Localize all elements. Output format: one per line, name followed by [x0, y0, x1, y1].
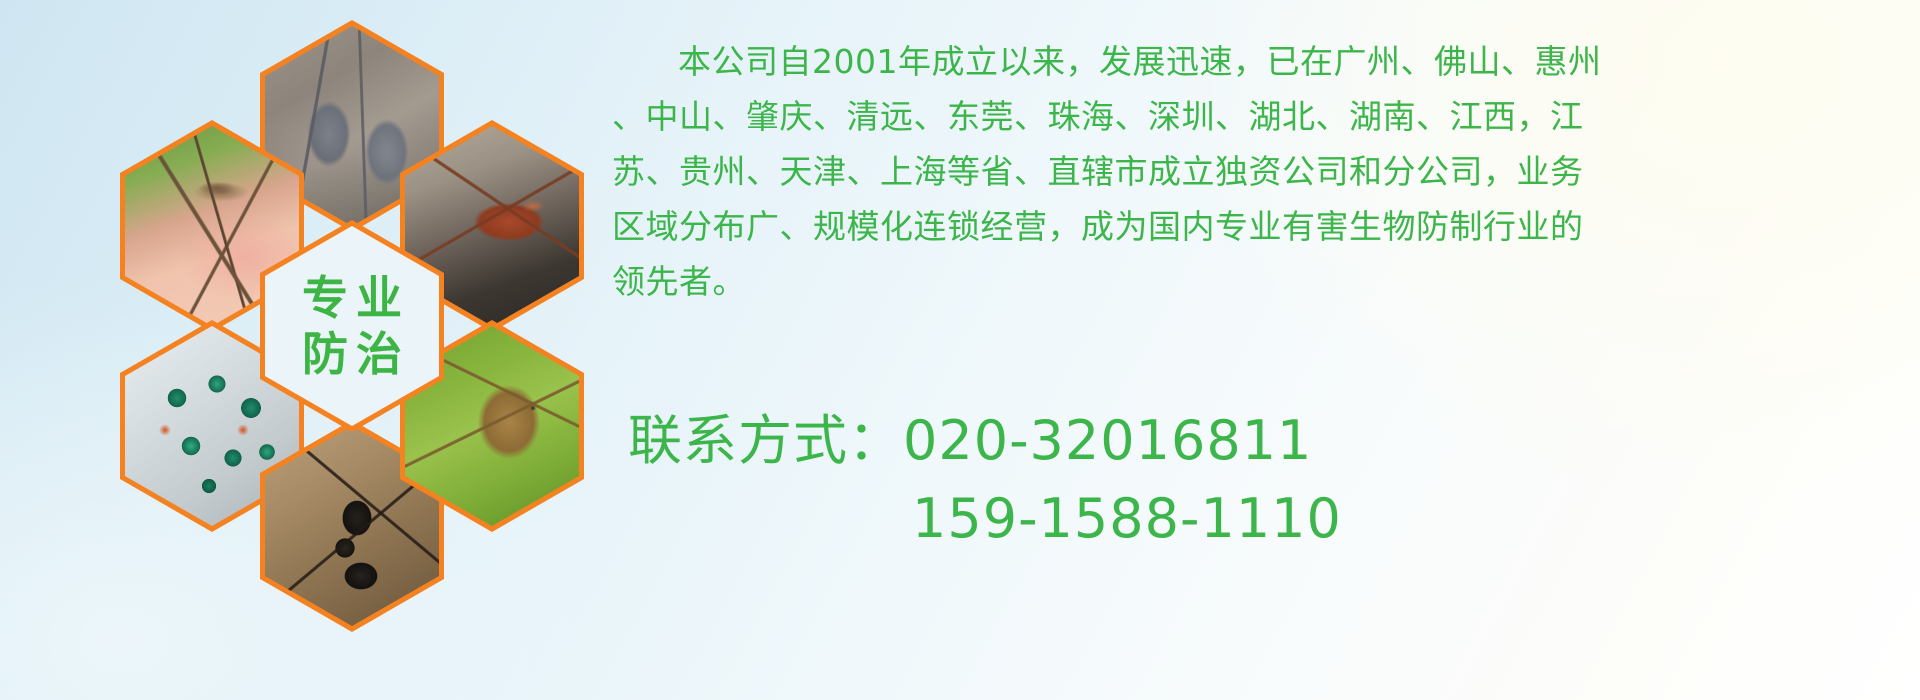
intro-line-5: 领先者。: [612, 254, 1904, 309]
intro-line-4: 区域分布广、规模化连锁经营，成为国内专业有害生物防制行业的: [612, 199, 1904, 254]
slogan-line-1: 专业: [294, 274, 410, 322]
slogan-line-2: 防治: [294, 330, 410, 378]
contact-block: 联系方式：020-32016811 159-1588-1110: [628, 402, 1908, 558]
hex-inner-slogan: 专业 防治: [265, 226, 439, 426]
contact-phone-secondary[interactable]: 159-1588-1110: [628, 480, 1908, 558]
promotional-banner: 专业 防治 本公司自2001年成立以来，发展迅速，已在广州、佛山、惠州 、中山、…: [0, 0, 1920, 700]
honeycomb-image-cluster: 专业 防治: [92, 0, 592, 572]
intro-line-3: 苏、贵州、天津、上海等省、直辖市成立独资公司和分公司，业务: [612, 144, 1904, 199]
intro-line-1: 本公司自2001年成立以来，发展迅速，已在广州、佛山、惠州: [612, 34, 1904, 89]
intro-line-2: 、中山、肇庆、清远、东莞、珠海、深圳、湖北、湖南、江西，江: [612, 89, 1904, 144]
contact-phone-primary[interactable]: 联系方式：020-32016811: [628, 402, 1908, 480]
slogan-text: 专业 防治: [265, 226, 439, 426]
company-intro-paragraph: 本公司自2001年成立以来，发展迅速，已在广州、佛山、惠州 、中山、肇庆、清远、…: [612, 34, 1904, 309]
